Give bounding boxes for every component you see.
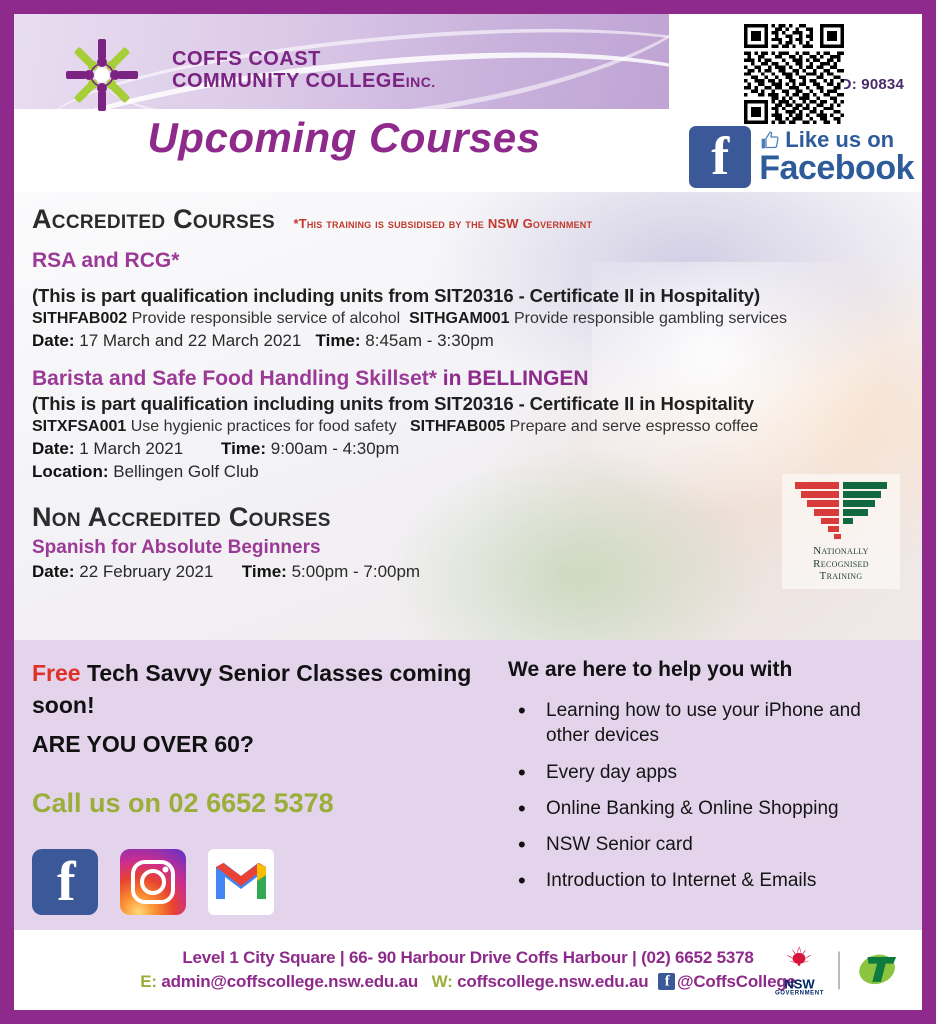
footer-address: Level 1 City Square | 66- 90 Harbour Dri…	[140, 947, 796, 969]
time-value: 9:00am - 4:30pm	[271, 439, 400, 458]
non-accredited-courses-heading: Non Accredited Courses	[32, 502, 904, 533]
promo-headline-text: Tech Savvy Senior Classes coming soon!	[32, 660, 471, 718]
course-title: RSA and RCG*	[32, 249, 904, 273]
footer-divider	[838, 951, 840, 989]
unit-title: Provide responsible service of alcohol	[132, 310, 401, 327]
page-title: Upcoming Courses	[14, 114, 674, 162]
like-us-label: Like us on	[785, 129, 894, 151]
course-entry: RSA and RCG* (This is part qualification…	[32, 249, 904, 351]
unit-code: SITHGAM001	[409, 310, 509, 327]
date-value: 1 March 2021	[79, 439, 183, 458]
unit-code: SITXFSA001	[32, 418, 126, 435]
nsw-label: NSW	[775, 978, 824, 991]
time-value: 5:00pm - 7:00pm	[292, 562, 421, 581]
help-bullet-list: Learning how to use your iPhone and othe…	[508, 698, 904, 894]
help-title: We are here to help you with	[508, 658, 904, 682]
course-entry: Spanish for Absolute Beginners Date: 22 …	[32, 537, 904, 582]
course-units: SITHFAB002 Provide responsible service o…	[32, 310, 904, 328]
web-label: W:	[432, 972, 453, 991]
list-item: Introduction to Internet & Emails	[508, 868, 904, 893]
unit-title: Use hygienic practices for food safety	[131, 418, 397, 435]
course-location-suffix: in BELLINGEN	[443, 367, 589, 390]
course-date-time: Date: 17 March and 22 March 2021 Time: 8…	[32, 331, 904, 351]
unit-title: Provide responsible gambling services	[514, 310, 787, 327]
subsidy-note: *This training is subsidised by the NSW …	[293, 216, 592, 231]
phone-number[interactable]: 02 6652 5378	[169, 788, 334, 818]
footer-links: E: admin@coffscollege.nsw.edu.au W: coff…	[140, 971, 796, 993]
course-entry: Barista and Safe Food Handling Skillset*…	[32, 367, 904, 482]
promo-right-column: We are here to help you with Learning ho…	[494, 658, 904, 920]
promo-headline: Free Tech Savvy Senior Classes coming so…	[32, 658, 484, 721]
footer-contact: Level 1 City Square | 66- 90 Harbour Dri…	[140, 947, 796, 993]
course-qualification: (This is part qualification including un…	[32, 285, 904, 307]
list-item: Online Banking & Online Shopping	[508, 796, 904, 821]
unit-title: Prepare and serve espresso coffee	[510, 418, 759, 435]
location-value: Bellingen Golf Club	[113, 462, 259, 481]
org-name-line2: COMMUNITY COLLEGEINC.	[172, 70, 436, 92]
footer-logos: NSW GOVERNMENT	[775, 944, 904, 997]
community-college-logo-icon	[42, 36, 162, 114]
list-item: NSW Senior card	[508, 832, 904, 857]
course-title: Spanish for Absolute Beginners	[32, 537, 904, 559]
accredited-heading-row: Accredited Courses *This training is sub…	[32, 204, 904, 235]
date-label: Date:	[32, 562, 75, 581]
list-item: Every day apps	[508, 760, 904, 785]
promo-left-column: Free Tech Savvy Senior Classes coming so…	[32, 658, 494, 920]
date-label: Date:	[32, 331, 75, 350]
header: COFFS COAST COMMUNITY COLLEGEINC. RTO ID…	[14, 14, 922, 192]
flyer-sheet: COFFS COAST COMMUNITY COLLEGEINC. RTO ID…	[14, 14, 922, 1010]
call-us-prefix: Call us on	[32, 788, 161, 818]
nsw-government-logo-icon: NSW GOVERNMENT	[775, 944, 824, 997]
email-label: E:	[140, 972, 157, 991]
email-value[interactable]: admin@coffscollege.nsw.edu.au	[161, 972, 418, 991]
gmail-icon[interactable]	[208, 849, 274, 915]
course-date-time: Date: 22 February 2021 Time: 5:00pm - 7:…	[32, 562, 904, 582]
nsw-sublabel: GOVERNMENT	[775, 991, 824, 997]
course-date-time: Date: 1 March 2021 Time: 9:00am - 4:30pm	[32, 439, 904, 459]
course-title: Barista and Safe Food Handling Skillset*…	[32, 367, 904, 391]
facebook-icon[interactable]	[32, 849, 98, 915]
promo-panel: Free Tech Savvy Senior Classes coming so…	[14, 640, 922, 930]
promo-question: ARE YOU OVER 60?	[32, 731, 484, 758]
org-name: COFFS COAST COMMUNITY COLLEGEINC.	[172, 48, 436, 93]
time-label: Time:	[242, 562, 287, 581]
course-units: SITXFSA001 Use hygienic practices for fo…	[32, 418, 904, 436]
date-value: 22 February 2021	[79, 562, 213, 581]
thumbs-up-icon	[759, 130, 780, 151]
qr-code-icon[interactable]	[744, 24, 844, 124]
social-icons	[32, 849, 484, 915]
accredited-courses-heading: Accredited Courses	[32, 204, 275, 235]
location-label: Location:	[32, 462, 109, 481]
time-value: 8:45am - 3:30pm	[365, 331, 494, 350]
telstra-logo-icon	[854, 947, 904, 994]
org-name-line1: COFFS COAST	[172, 48, 436, 70]
web-value[interactable]: coffscollege.nsw.edu.au	[457, 972, 648, 991]
date-value: 17 March and 22 March 2021	[79, 331, 301, 350]
facebook-like-text: Like us on Facebook	[759, 129, 914, 185]
time-label: Time:	[316, 331, 361, 350]
footer: Level 1 City Square | 66- 90 Harbour Dri…	[14, 930, 922, 1010]
flyer-root: COFFS COAST COMMUNITY COLLEGEINC. RTO ID…	[0, 0, 936, 1024]
facebook-icon[interactable]	[689, 126, 751, 188]
unit-code: SITHFAB002	[32, 310, 127, 327]
free-badge: Free	[32, 660, 81, 686]
time-label: Time:	[221, 439, 266, 458]
facebook-like-badge[interactable]: Like us on Facebook	[689, 126, 914, 188]
course-qualification: (This is part qualification including un…	[32, 393, 904, 415]
courses-section: Accredited Courses *This training is sub…	[14, 192, 922, 640]
list-item: Learning how to use your iPhone and othe…	[508, 698, 904, 749]
date-label: Date:	[32, 439, 75, 458]
unit-code: SITHFAB005	[410, 418, 505, 435]
nrt-caption: Nationally Recognised Training	[786, 545, 896, 583]
course-location: Location: Bellingen Golf Club	[32, 462, 904, 482]
instagram-icon[interactable]	[120, 849, 186, 915]
nationally-recognised-training-icon: Nationally Recognised Training	[782, 474, 900, 589]
call-us-line: Call us on 02 6652 5378	[32, 788, 484, 819]
facebook-icon[interactable]	[658, 973, 675, 990]
facebook-wordmark: Facebook	[759, 151, 914, 185]
